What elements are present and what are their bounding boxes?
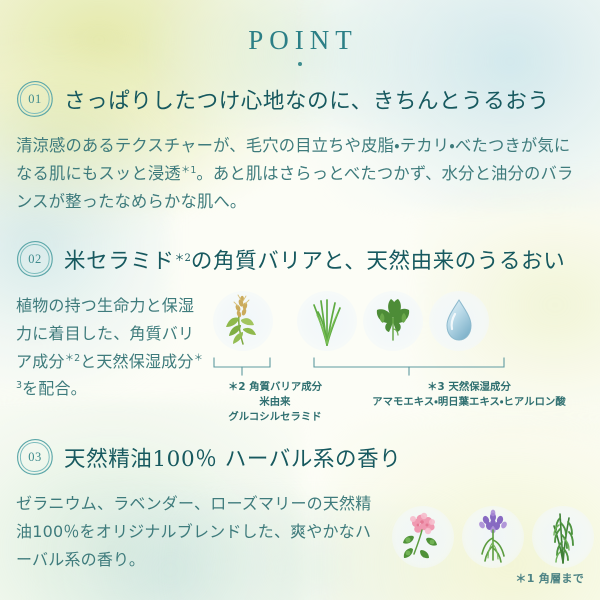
caption-barrier-line-2: 米由来 — [210, 395, 340, 410]
point-number-badge-01: 01 — [14, 78, 56, 120]
point-02-heading-footnote-marker: ＊2 — [175, 253, 191, 264]
rice-plant-icon — [210, 288, 276, 354]
seagrass-icon — [294, 288, 360, 354]
point-02-heading-part-a: 米セラミド — [64, 249, 175, 274]
caption-barrier-line-1: ＊2 角質バリア成分 — [210, 380, 340, 395]
point-03-heading: 天然精油100％ ハーバル系の香り — [64, 442, 401, 473]
ingredient-icon-group: ＊2 角質バリア成分 米由来 グルコシルセラミド ＊3 天然保湿成分 アマモエキ… — [210, 280, 600, 425]
title-dot-ornament — [298, 62, 302, 66]
caption-moisture-line-2: アマモエキス・明日葉エキス・ヒアルロン酸 — [340, 395, 598, 410]
point-02-body-text-c: を配合。 — [22, 379, 87, 398]
ingredient-brackets — [210, 356, 600, 378]
point-02-content-row: 植物の持つ生命力と保湿力に着目した、角質バリア成分＊2と天然保湿成分＊3を配合。 — [0, 280, 600, 425]
water-droplet-icon — [426, 288, 492, 354]
point-section-02: 02 米セラミド＊2の角質バリアと、天然由来のうるおい 植物の持つ生命力と保湿力… — [0, 238, 600, 425]
point-02-body: 植物の持つ生命力と保湿力に着目した、角質バリア成分＊2と天然保湿成分＊3を配合。 — [16, 292, 206, 425]
point-03-body: ゼラニウム、ラベンダー、ローズマリーの天然精油100％をオリジナルブレンドした、… — [16, 490, 386, 574]
point-section-01: 01 さっぱりしたつけ心地なのに、きちんとうるおう 清涼感のあるテクスチャーが、… — [0, 78, 600, 216]
point-number-label-03: 03 — [14, 436, 56, 478]
point-02-body-footnote-marker-1: ＊2 — [65, 353, 81, 364]
point-02-body-text-b: と天然保湿成分 — [80, 352, 193, 371]
point-number-label-02: 02 — [14, 238, 56, 280]
page-title: POINT — [0, 25, 600, 56]
point-number-badge-02: 02 — [14, 238, 56, 280]
point-number-label-01: 01 — [14, 78, 56, 120]
point-01-heading-row: 01 さっぱりしたつけ心地なのに、きちんとうるおう — [0, 78, 600, 120]
point-03-heading-row: 03 天然精油100％ ハーバル系の香り — [0, 436, 600, 478]
point-01-heading: さっぱりしたつけ心地なのに、きちんとうるおう — [64, 84, 550, 115]
rosemary-herb-icon — [528, 500, 598, 574]
point-section-03: 03 天然精油100％ ハーバル系の香り ゼラニウム、ラベンダー、ローズマリーの… — [0, 436, 600, 574]
point-03-content-row: ゼラニウム、ラベンダー、ローズマリーの天然精油100％をオリジナルブレンドした、… — [0, 478, 600, 574]
geranium-flower-icon — [388, 500, 458, 574]
caption-moisture-line-1: ＊3 天然保湿成分 — [340, 380, 598, 395]
ingredient-caption-row: ＊2 角質バリア成分 米由来 グルコシルセラミド ＊3 天然保湿成分 アマモエキ… — [210, 380, 600, 425]
lavender-flower-icon — [458, 500, 528, 574]
aroma-icon-group — [388, 478, 600, 574]
point-02-heading: 米セラミド＊2の角質バリアと、天然由来のうるおい — [64, 244, 565, 275]
point-01-body: 清涼感のあるテクスチャーが、毛穴の目立ちや皮脂・テカリ・べたつきが気になる肌にも… — [16, 132, 586, 216]
ingredient-caption-barrier: ＊2 角質バリア成分 米由来 グルコシルセラミド — [210, 380, 340, 425]
point-number-badge-03: 03 — [14, 436, 56, 478]
ingredient-icon-row — [210, 288, 600, 354]
ashitaba-leaf-icon — [360, 288, 426, 354]
point-01-body-footnote-marker: ＊1 — [181, 165, 197, 176]
point-02-heading-row: 02 米セラミド＊2の角質バリアと、天然由来のうるおい — [0, 238, 600, 280]
point-02-heading-part-b: の角質バリアと、天然由来のうるおい — [191, 249, 565, 274]
point-section-page: POINT 01 さっぱりしたつけ心地なのに、きちんとうるおう 清涼感のあるテク… — [0, 0, 600, 600]
page-footnote: ＊1 角層まで — [515, 570, 584, 586]
ingredient-caption-moisture: ＊3 天然保湿成分 アマモエキス・明日葉エキス・ヒアルロン酸 — [340, 380, 598, 425]
caption-barrier-line-3: グルコシルセラミド — [210, 410, 340, 425]
